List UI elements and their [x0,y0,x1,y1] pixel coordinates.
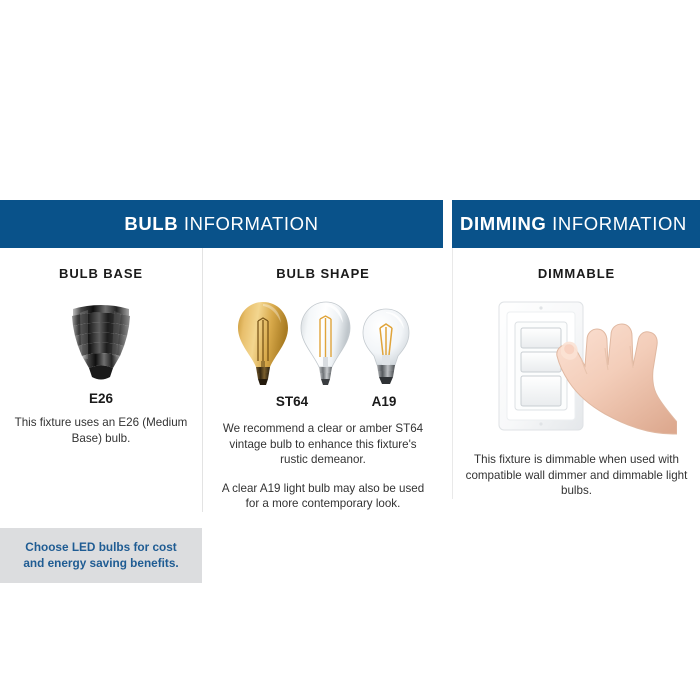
led-callout-box: Choose LED bulbs for cost and energy sav… [0,528,202,583]
dimming-header-light: INFORMATION [552,213,687,234]
bulb-shape-labels: ST64 A19 [217,394,429,409]
dimming-information-panel: DIMMING INFORMATION DIMMABLE [452,200,700,499]
dimming-body: DIMMABLE [452,248,700,499]
bulb-shape-heading: BULB SHAPE [217,266,429,281]
wall-dimmer-switch-with-hand-icon [463,295,690,438]
bulb-base-heading: BULB BASE [14,266,188,281]
dimming-description: This fixture is dimmable when used with … [463,452,690,499]
bulb-columns: BULB BASE [0,248,443,512]
bulb-shape-column: BULB SHAPE [202,248,443,512]
bulb-shape-description-1: We recommend a clear or amber ST64 vinta… [217,421,429,468]
bulb-header-strong: BULB [124,213,178,234]
led-callout-text: Choose LED bulbs for cost and energy sav… [14,539,188,571]
bulb-header-light: INFORMATION [184,213,319,234]
bulb-base-column: BULB BASE [0,248,202,512]
bulb-shape-description-2: A clear A19 light bulb may also be used … [217,481,429,512]
dimming-header-strong: DIMMING [460,213,546,234]
bulb-information-header-bar: BULB INFORMATION [0,200,443,248]
a19-clear-bulb-icon [359,307,413,391]
dimming-information-title: DIMMING INFORMATION [460,213,687,235]
st64-clear-bulb-icon [297,299,355,391]
bulb-information-title: BULB INFORMATION [124,213,318,235]
panels-container: BULB INFORMATION BULB BASE [0,200,700,583]
a19-label: A19 [355,394,413,409]
bulb-base-caption: E26 [14,391,188,406]
bulb-base-description: This fixture uses an E26 (Medium Base) b… [14,415,188,446]
dimming-spacer [463,438,690,452]
bulb-shape-images [217,295,429,391]
e26-screw-base-icon [14,295,188,387]
dimming-information-header-bar: DIMMING INFORMATION [452,200,700,248]
product-info-graphic: BULB INFORMATION BULB BASE [0,0,700,700]
st64-amber-bulb-icon [233,299,293,391]
dimmable-heading: DIMMABLE [463,266,690,281]
bulb-information-panel: BULB INFORMATION BULB BASE [0,200,443,583]
st64-label: ST64 [233,394,351,409]
